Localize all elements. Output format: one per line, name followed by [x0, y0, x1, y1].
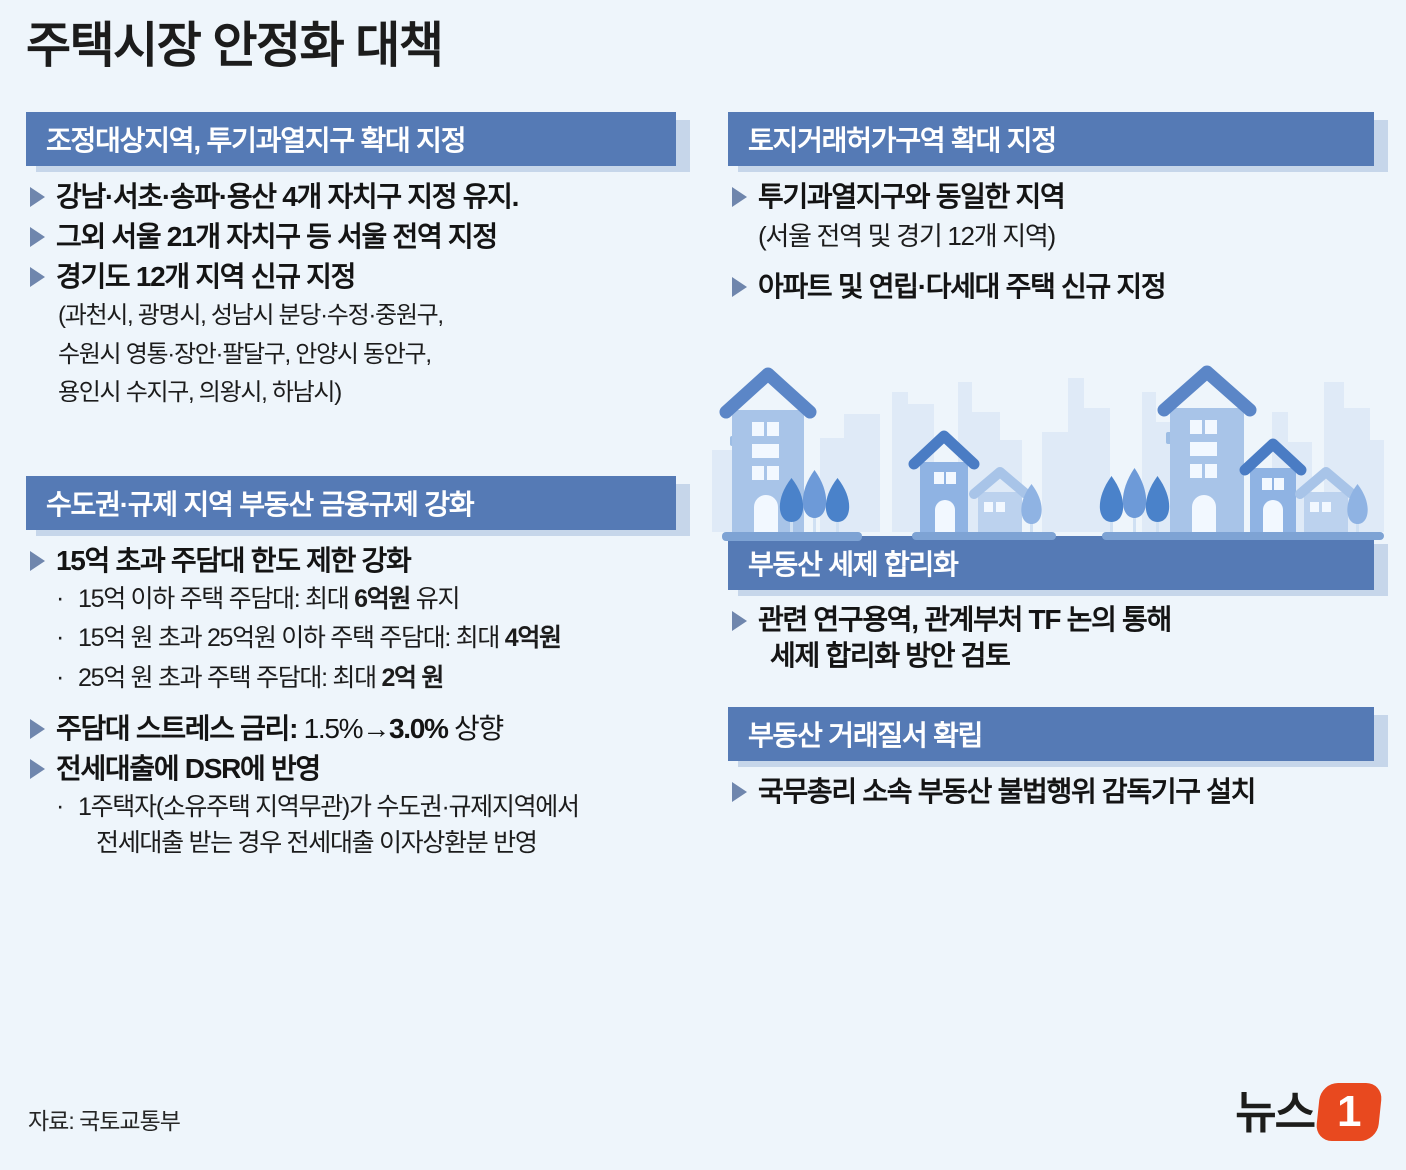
spacer: [728, 677, 1384, 707]
sub-item: · 15억 이하 주택 주담대: 최대 6억원 유지: [26, 582, 686, 618]
bullet-text: 경기도 12개 지역 신규 지정: [56, 261, 355, 292]
bullet-text: 투기과열지구와 동일한 지역: [758, 181, 1064, 212]
bullet-item-stress-rate: 주담대 스트레스 금리: 1.5%→3.0% 상향: [26, 710, 686, 748]
spacer: [728, 258, 1384, 268]
section-header-designation: 조정대상지역, 투기과열지구 확대 지정: [26, 112, 686, 166]
source-label: 자료: 국토교통부: [28, 1102, 180, 1136]
triangle-bullet-icon: [30, 759, 45, 779]
sub-item: · 15억 원 초과 25억원 이하 주택 주담대: 최대 4억원: [26, 621, 686, 657]
note-line: (과천시, 광명시, 성남시 분당·수정·중원구,: [26, 298, 686, 334]
spacer: [26, 414, 686, 448]
houses-trees-skyline-illustration: [712, 352, 1384, 552]
stress-rate-to: 3.0%: [389, 713, 448, 744]
sub-text-line2: 전세대출 받는 경우 전세대출 이자상환분 반영: [78, 826, 686, 862]
section-header-order: 부동산 거래질서 확립: [728, 707, 1384, 761]
middot-bullet-icon: ·: [56, 581, 63, 617]
logo-digit-badge: 1: [1315, 1083, 1383, 1141]
sub-text-bold: 4억원: [505, 624, 561, 652]
triangle-bullet-icon: [30, 267, 45, 287]
infographic-page: 주택시장 안정화 대책 조정대상지역, 투기과열지구 확대 지정 강남·서초·송…: [0, 0, 1406, 1170]
triangle-bullet-icon: [732, 611, 747, 631]
sub-text-post: 유지: [410, 585, 459, 613]
sub-item: · 25억 원 초과 주택 주담대: 최대 2억 원: [26, 661, 686, 697]
bullet-item: 아파트 및 연립·다세대 주택 신규 지정: [728, 268, 1384, 306]
stress-rate-from: 1.5%→: [304, 713, 389, 744]
sub-text-pre: 25억 원 초과 주택 주담대: 최대: [78, 664, 381, 692]
section-heading-text: 토지거래허가구역 확대 지정: [728, 119, 1056, 159]
sub-item: · 1주택자(소유주택 지역무관)가 수도권·규제지역에서 전세대출 받는 경우…: [26, 790, 686, 861]
middot-bullet-icon: ·: [56, 789, 63, 825]
left-column: 조정대상지역, 투기과열지구 확대 지정 강남·서초·송파·용산 4개 자치구 …: [26, 112, 686, 865]
bullet-item: 국무총리 소속 부동산 불법행위 감독기구 설치: [728, 773, 1384, 811]
section-land-permit: 토지거래허가구역 확대 지정 투기과열지구와 동일한 지역 (서울 전역 및 경…: [728, 112, 1384, 306]
bullet-item: 관련 연구용역, 관계부처 TF 논의 통해 세제 합리화 방안 검토: [728, 602, 1384, 675]
stress-rate-label: 주담대 스트레스 금리:: [56, 713, 304, 744]
sub-text-bold: 6억원: [354, 585, 410, 613]
bullet-text: 아파트 및 연립·다세대 주택 신규 지정: [758, 271, 1165, 302]
section-heading-text: 조정대상지역, 투기과열지구 확대 지정: [26, 119, 465, 159]
section-finance: 수도권·규제 지역 부동산 금융규제 강화 15억 초과 주담대 한도 제한 강…: [26, 476, 686, 862]
bullet-text: 국무총리 소속 부동산 불법행위 감독기구 설치: [758, 776, 1255, 807]
bullet-text-line1: 관련 연구용역, 관계부처 TF 논의 통해: [758, 604, 1171, 635]
triangle-bullet-icon: [732, 187, 747, 207]
page-title: 주택시장 안정화 대책: [26, 20, 442, 74]
header-bar: 토지거래허가구역 확대 지정: [728, 112, 1374, 166]
header-bar: 조정대상지역, 투기과열지구 확대 지정: [26, 112, 676, 166]
triangle-bullet-icon: [30, 187, 45, 207]
bullet-text-line2: 세제 합리화 방안 검토: [758, 638, 1384, 674]
section-heading-text: 수도권·규제 지역 부동산 금융규제 강화: [26, 483, 473, 523]
bullet-item: 그외 서울 21개 자치구 등 서울 전역 지정: [26, 218, 686, 256]
bullet-item: 경기도 12개 지역 신규 지정: [26, 258, 686, 296]
section-heading-text: 부동산 거래질서 확립: [728, 714, 982, 754]
bullet-item: 전세대출에 DSR에 반영: [26, 750, 686, 788]
bullet-text: 전세대출에 DSR에 반영: [56, 753, 320, 784]
section-order: 부동산 거래질서 확립 국무총리 소속 부동산 불법행위 감독기구 설치: [728, 707, 1384, 811]
bullet-text: 그외 서울 21개 자치구 등 서울 전역 지정: [56, 221, 497, 252]
bullet-item: 강남·서초·송파·용산 4개 자치구 지정 유지.: [26, 178, 686, 216]
bullet-item: 15억 초과 주담대 한도 제한 강화: [26, 542, 686, 580]
section-tax: 부동산 세제 합리화 관련 연구용역, 관계부처 TF 논의 통해 세제 합리화…: [728, 536, 1384, 675]
note-line: 수원시 영통·장안·팔달구, 안양시 동안구,: [26, 337, 686, 373]
triangle-bullet-icon: [732, 782, 747, 802]
note-line: (서울 전역 및 경기 12개 지역): [728, 218, 1384, 256]
header-bar: 부동산 거래질서 확립: [728, 707, 1374, 761]
section-header-finance: 수도권·규제 지역 부동산 금융규제 강화: [26, 476, 686, 530]
middot-bullet-icon: ·: [56, 660, 63, 696]
logo-digit: 1: [1337, 1090, 1361, 1134]
triangle-bullet-icon: [30, 719, 45, 739]
news1-logo: 뉴스 1: [1235, 1082, 1380, 1142]
logo-wordmark: 뉴스: [1235, 1090, 1314, 1135]
bullet-item: 투기과열지구와 동일한 지역: [728, 178, 1384, 216]
section-header-land-permit: 토지거래허가구역 확대 지정: [728, 112, 1384, 166]
triangle-bullet-icon: [30, 227, 45, 247]
spacer: [26, 448, 686, 476]
section-designation: 조정대상지역, 투기과열지구 확대 지정 강남·서초·송파·용산 4개 자치구 …: [26, 112, 686, 412]
triangle-bullet-icon: [30, 551, 45, 571]
sub-text-line1: 1주택자(소유주택 지역무관)가 수도권·규제지역에서: [78, 793, 579, 821]
sub-text-pre: 15억 원 초과 25억원 이하 주택 주담대: 최대: [78, 624, 505, 652]
middot-bullet-icon: ·: [56, 620, 63, 656]
sub-text-bold: 2억 원: [381, 664, 443, 692]
bullet-text: 강남·서초·송파·용산 4개 자치구 지정 유지.: [56, 181, 518, 212]
header-bar: 수도권·규제 지역 부동산 금융규제 강화: [26, 476, 676, 530]
note-line: 용인시 수지구, 의왕시, 하남시): [26, 375, 686, 411]
sub-text-pre: 15억 이하 주택 주담대: 최대: [78, 585, 354, 613]
stress-rate-suffix: 상향: [448, 713, 503, 744]
bullet-text: 15억 초과 주담대 한도 제한 강화: [56, 545, 410, 576]
spacer: [26, 700, 686, 710]
triangle-bullet-icon: [732, 277, 747, 297]
